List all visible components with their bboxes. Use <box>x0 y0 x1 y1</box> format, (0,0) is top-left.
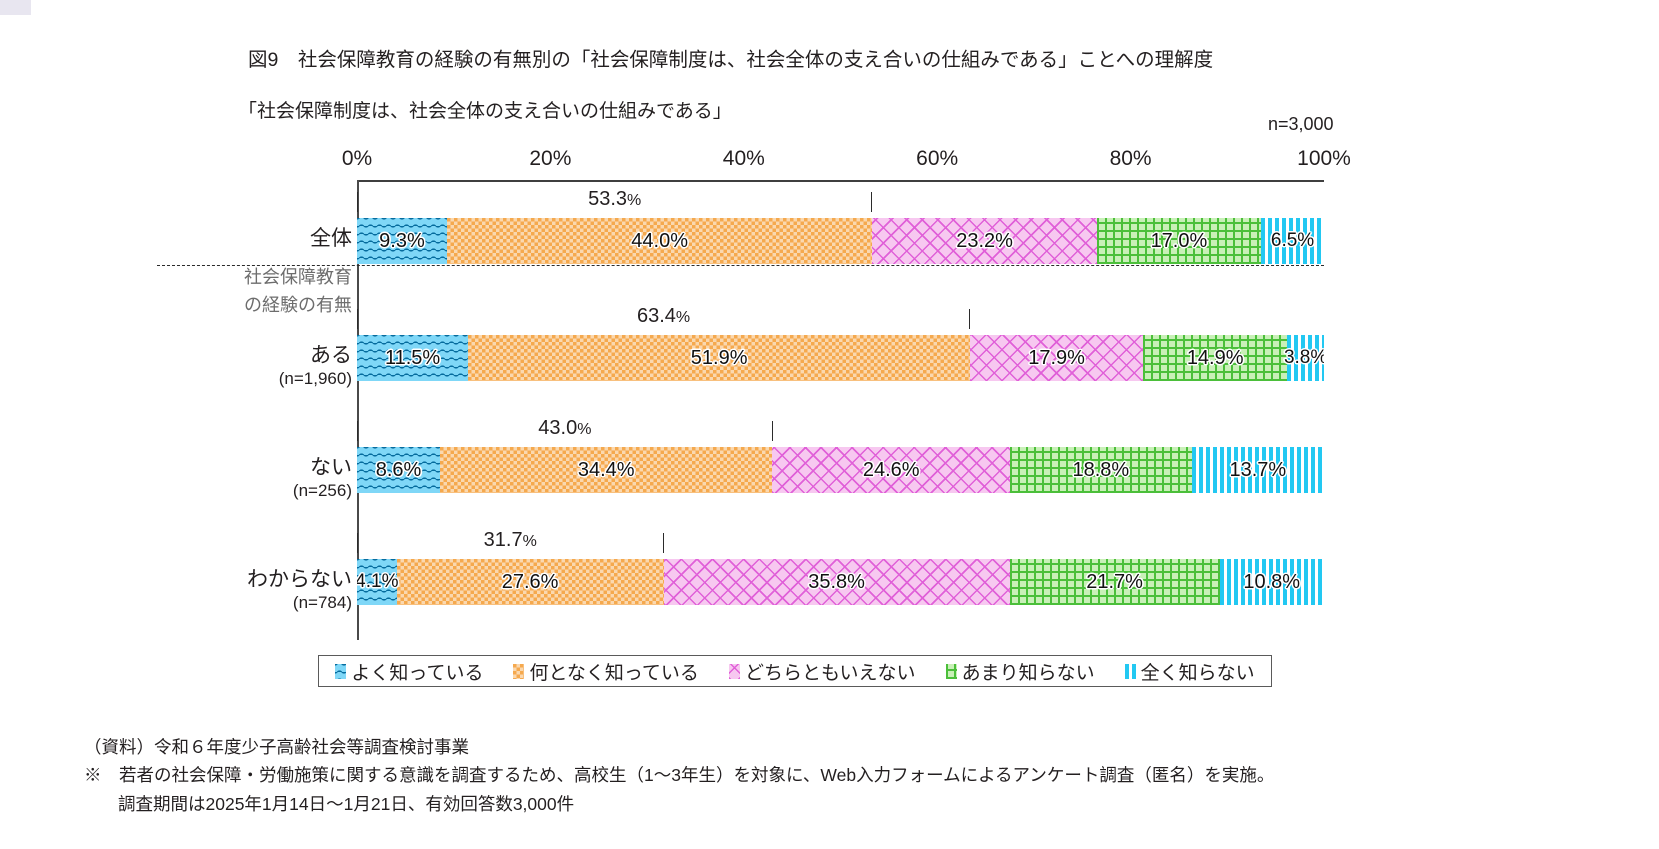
legend-swatch-icon <box>946 664 957 679</box>
row-label: ある(n=1,960) <box>279 344 352 389</box>
row-label: ない(n=256) <box>293 456 352 501</box>
bar-segment[interactable]: 13.7% <box>1192 447 1324 493</box>
bar-segment[interactable]: 10.8% <box>1220 559 1324 605</box>
chart-legend: よく知っている何となく知っているどちらともいえないあまり知らない全く知らない <box>318 655 1272 687</box>
legend-label: よく知っている <box>351 658 483 685</box>
x-axis-tick-label: 80% <box>1110 147 1152 171</box>
bar-segment-value: 4.1% <box>357 571 398 593</box>
footnote-line: 調査期間は2025年1月14日～1月21日、有効回答数3,000件 <box>84 790 1644 818</box>
bar-segment[interactable]: 27.6% <box>397 559 664 605</box>
bracket-value: 63.4 <box>637 305 676 327</box>
bar-segment[interactable]: 3.8% <box>1287 335 1324 381</box>
legend-label: 全く知らない <box>1141 658 1255 685</box>
category-label-column: 社会保障教育 の経験の有無 全体ある(n=1,960)ない(n=256)わからな… <box>180 180 352 640</box>
bar-segment[interactable]: 23.2% <box>872 218 1096 264</box>
bar-segment-value: 9.3% <box>379 230 425 253</box>
stacked-bar: 9.3%44.0%23.2%17.0%6.5% <box>357 218 1324 264</box>
bar-segment-value: 3.8% <box>1284 347 1324 369</box>
bar-segment-value: 44.0% <box>631 230 688 253</box>
bracket-annotation-label: 63.4% <box>632 305 695 328</box>
bracket-unit: % <box>627 192 641 209</box>
bar-segment-value: 17.0% <box>1151 230 1208 253</box>
bar-segment[interactable]: 21.7% <box>1010 559 1220 605</box>
row-label-name: わからない <box>247 568 352 591</box>
legend-item[interactable]: よく知っている <box>335 658 483 685</box>
legend-item[interactable]: あまり知らない <box>946 658 1095 685</box>
bar-segment-value: 8.6% <box>376 459 422 482</box>
bar-segment[interactable]: 34.4% <box>440 447 772 493</box>
group-separator-dashed-line <box>157 265 1324 266</box>
top-band-white-inset <box>31 0 1659 15</box>
row-label: 全体 <box>310 227 352 252</box>
bar-segment[interactable]: 35.8% <box>664 559 1010 605</box>
bar-segment[interactable]: 11.5% <box>357 335 468 381</box>
bar-segment-value: 51.9% <box>691 347 748 370</box>
legend-item[interactable]: 全く知らない <box>1125 658 1255 685</box>
footnotes: （資料）令和６年度少子高齢社会等調査検討事業※ 若者の社会保障・労働施策に関する… <box>84 733 1644 818</box>
row-label: わからない(n=784) <box>247 568 352 613</box>
x-axis-tick-label: 40% <box>723 147 765 171</box>
bar-segment-value: 23.2% <box>956 230 1013 253</box>
legend-item[interactable]: どちらともいえない <box>729 658 916 685</box>
bar-segment-value: 10.8% <box>1243 571 1300 594</box>
bar-segment-value: 24.6% <box>863 459 920 482</box>
row-label-name: ない <box>310 456 352 479</box>
bracket-annotation-label: 43.0% <box>533 417 596 440</box>
bar-segment[interactable]: 8.6% <box>357 447 440 493</box>
legend-swatch-icon <box>1125 664 1136 679</box>
bracket-unit: % <box>523 533 537 550</box>
row-label-sample-size: (n=256) <box>293 481 352 501</box>
x-axis-tick-label: 0% <box>342 147 372 171</box>
bar-segment[interactable]: 17.9% <box>970 335 1143 381</box>
legend-swatch-icon <box>513 664 524 679</box>
legend-label: 何となく知っている <box>529 658 698 685</box>
bar-segment-value: 6.5% <box>1271 230 1314 252</box>
bracket-annotation-label: 53.3% <box>583 188 646 211</box>
bar-segment-value: 21.7% <box>1086 571 1143 594</box>
x-axis-line <box>357 180 1324 182</box>
bar-segment[interactable]: 24.6% <box>772 447 1010 493</box>
bracket-unit: % <box>676 309 690 326</box>
footnote-line: ※ 若者の社会保障・労働施策に関する意識を調査するため、高校生（1～3年生）を対… <box>84 761 1644 789</box>
bar-segment-value: 11.5% <box>385 347 440 370</box>
bar-segment[interactable]: 17.0% <box>1097 218 1261 264</box>
stacked-bar: 4.1%27.6%35.8%21.7%10.8% <box>357 559 1324 605</box>
x-axis-tick-label: 100% <box>1297 147 1351 171</box>
bar-segment-value: 14.9% <box>1187 347 1244 370</box>
legend-label: どちらともいえない <box>745 658 916 685</box>
bracket-value: 53.3 <box>588 188 627 210</box>
bar-segment-value: 35.8% <box>808 571 865 594</box>
footnote-line: （資料）令和６年度少子高齢社会等調査検討事業 <box>84 733 1644 761</box>
bar-segment[interactable]: 9.3% <box>357 218 447 264</box>
bar-segment[interactable]: 44.0% <box>447 218 872 264</box>
category-axis-title-line1: 社会保障教育 <box>244 267 352 287</box>
bracket-value: 43.0 <box>538 417 577 439</box>
bar-segment-value: 34.4% <box>578 459 635 482</box>
legend-item[interactable]: 何となく知っている <box>513 658 698 685</box>
bracket-value: 31.7 <box>484 529 523 551</box>
bar-segment[interactable]: 51.9% <box>468 335 970 381</box>
sample-size-label: n=3,000 <box>1268 114 1334 135</box>
bar-segment[interactable]: 14.9% <box>1143 335 1287 381</box>
row-label-name: 全体 <box>310 227 352 250</box>
row-label-sample-size: (n=1,960) <box>279 369 352 389</box>
row-label-sample-size: (n=784) <box>247 593 352 613</box>
bar-segment[interactable]: 6.5% <box>1261 218 1324 264</box>
legend-swatch-icon <box>729 664 740 679</box>
bar-segment-value: 13.7% <box>1229 459 1286 482</box>
x-axis-tick-label: 60% <box>916 147 958 171</box>
row-label-name: ある <box>310 344 352 367</box>
chart-plot-area: 0%20%40%60%80%100%53.3%9.3%44.0%23.2%17.… <box>357 180 1324 640</box>
bar-segment[interactable]: 4.1% <box>357 559 397 605</box>
bracket-unit: % <box>577 421 591 438</box>
bar-segment-value: 18.8% <box>1073 459 1130 482</box>
bracket-annotation-label: 31.7% <box>479 529 542 552</box>
category-axis-title: 社会保障教育 の経験の有無 <box>244 264 352 320</box>
stacked-bar: 11.5%51.9%17.9%14.9%3.8% <box>357 335 1324 381</box>
bar-segment[interactable]: 18.8% <box>1010 447 1192 493</box>
legend-swatch-icon <box>335 664 346 679</box>
category-axis-title-line2: の経験の有無 <box>244 295 352 315</box>
x-axis-tick-label: 20% <box>529 147 571 171</box>
bar-segment-value: 27.6% <box>502 571 559 594</box>
legend-label: あまり知らない <box>962 658 1095 685</box>
stacked-bar: 8.6%34.4%24.6%18.8%13.7% <box>357 447 1324 493</box>
bar-segment-value: 17.9% <box>1028 347 1085 370</box>
chart-subtitle: 「社会保障制度は、社会全体の支え合いの仕組みである」 <box>238 96 732 123</box>
figure-title: 図9 社会保障教育の経験の有無別の「社会保障制度は、社会全体の支え合いの仕組みで… <box>248 43 1213 72</box>
